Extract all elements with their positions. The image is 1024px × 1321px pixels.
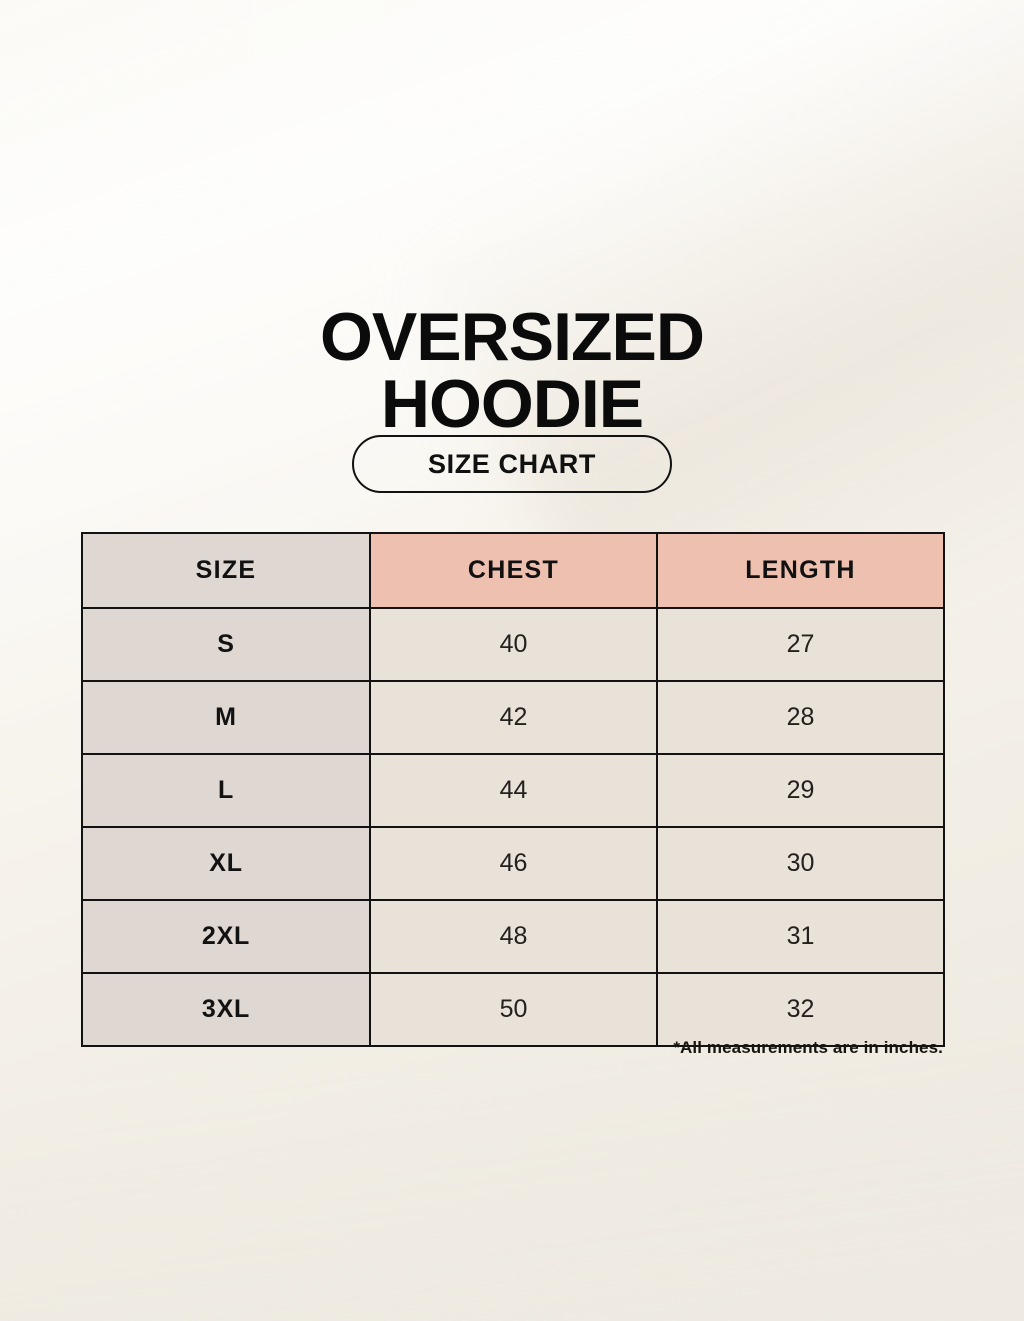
table-header-row: SIZE CHEST LENGTH: [82, 533, 944, 608]
cell-length: 30: [657, 827, 944, 900]
cell-size: 2XL: [82, 900, 370, 973]
size-chart-badge-row: SIZE CHART: [0, 435, 1024, 493]
cell-size: L: [82, 754, 370, 827]
cell-length: 27: [657, 608, 944, 681]
cell-chest: 46: [370, 827, 657, 900]
table-header: SIZE CHEST LENGTH: [82, 533, 944, 608]
cell-length: 31: [657, 900, 944, 973]
cell-length: 28: [657, 681, 944, 754]
table-row: M 42 28: [82, 681, 944, 754]
cell-chest: 44: [370, 754, 657, 827]
column-header-size: SIZE: [82, 533, 370, 608]
cell-chest: 48: [370, 900, 657, 973]
column-header-chest: CHEST: [370, 533, 657, 608]
cell-chest: 40: [370, 608, 657, 681]
size-table-container: SIZE CHEST LENGTH S 40 27 M 42 28: [81, 532, 943, 1047]
cell-size: S: [82, 608, 370, 681]
content-layer: OVERSIZED HOODIE SIZE CHART SIZE CHEST L…: [0, 0, 1024, 1321]
cell-chest: 50: [370, 973, 657, 1046]
size-chart-badge: SIZE CHART: [352, 435, 672, 493]
measurement-footnote: *All measurements are in inches.: [81, 1038, 943, 1058]
table-row: 3XL 50 32: [82, 973, 944, 1046]
table-row: 2XL 48 31: [82, 900, 944, 973]
cell-size: 3XL: [82, 973, 370, 1046]
table-row: XL 46 30: [82, 827, 944, 900]
cell-length: 32: [657, 973, 944, 1046]
cell-size: M: [82, 681, 370, 754]
table-row: S 40 27: [82, 608, 944, 681]
size-chart-page: OVERSIZED HOODIE SIZE CHART SIZE CHEST L…: [0, 0, 1024, 1321]
page-title: OVERSIZED HOODIE: [0, 304, 1024, 439]
table-body: S 40 27 M 42 28 L 44 29 XL: [82, 608, 944, 1046]
cell-chest: 42: [370, 681, 657, 754]
cell-size: XL: [82, 827, 370, 900]
column-header-length: LENGTH: [657, 533, 944, 608]
cell-length: 29: [657, 754, 944, 827]
table-row: L 44 29: [82, 754, 944, 827]
size-chart-table: SIZE CHEST LENGTH S 40 27 M 42 28: [81, 532, 945, 1047]
